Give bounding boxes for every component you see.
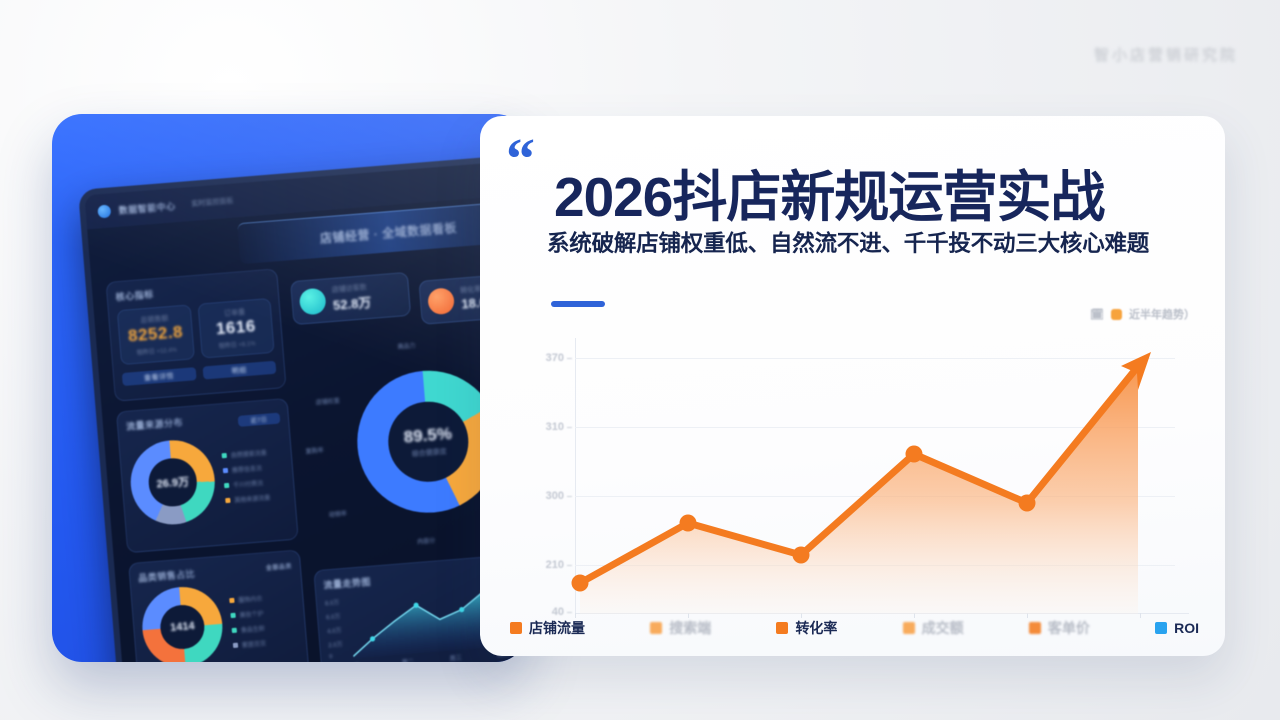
kpi-panel-title: 核心指标 bbox=[115, 278, 270, 303]
legend-label: 推荐信息流 bbox=[232, 463, 263, 474]
legend-swatch bbox=[776, 622, 788, 634]
legend-label: 其他来源流量 bbox=[234, 493, 271, 505]
area-ytick: 6.0万 bbox=[326, 611, 349, 622]
legend-label: ROI bbox=[1174, 620, 1199, 636]
legend-swatch bbox=[230, 613, 235, 618]
legend-label: 店铺流量 bbox=[529, 618, 585, 638]
chart-meta[interactable]: 🗓 近半年趋势） bbox=[1090, 306, 1195, 322]
legend-item-gmv[interactable]: 成交额 bbox=[903, 618, 964, 638]
kpi-label: 总销售额 bbox=[125, 312, 183, 327]
area-xtick: 周三 bbox=[449, 653, 462, 662]
legend-swatch bbox=[650, 622, 662, 634]
area-xtick: 周二 bbox=[402, 657, 415, 662]
legend-label: 客单价 bbox=[1048, 618, 1090, 638]
traffic-circle-icon bbox=[299, 288, 327, 316]
legend-swatch bbox=[1029, 622, 1041, 634]
legend-swatch bbox=[223, 468, 228, 473]
legend-item: 食品生鲜 bbox=[231, 623, 265, 635]
kpi-label: 订单量 bbox=[206, 306, 264, 321]
legend-swatch bbox=[225, 498, 230, 503]
chart-ytick: 210 bbox=[546, 559, 575, 571]
chart-point bbox=[793, 547, 810, 564]
legend-swatch bbox=[1155, 622, 1167, 634]
donut-chart-category-sales: 1414 bbox=[139, 584, 225, 662]
dashboard-subnav[interactable]: 实时监控面板 bbox=[191, 196, 234, 209]
area-ytick: 0 bbox=[329, 653, 351, 661]
dashboard-showcase-card: 数据智能中心 实时监控面板 店铺经营 · 全域数据看板 管理员 运营者 核心指标… bbox=[52, 114, 526, 662]
chart-point bbox=[572, 575, 589, 592]
area-ytick: 8.0万 bbox=[325, 597, 348, 608]
dashboard-topbar: 数据智能中心 实时监控面板 bbox=[84, 151, 526, 230]
legend-item-shop-traffic[interactable]: 店铺流量 bbox=[510, 618, 585, 638]
legend-label: 转化率 bbox=[795, 618, 837, 638]
donut-left-action-label: 近7日 bbox=[250, 414, 268, 424]
calendar-icon: 🗓 bbox=[1090, 308, 1104, 321]
legend-swatch bbox=[903, 622, 915, 634]
legend-item-roi[interactable]: ROI bbox=[1155, 620, 1199, 636]
kpi-card[interactable]: 总销售额 8252.8 较昨日 +12.4% bbox=[117, 304, 195, 365]
watermark-text: 智小店营销研究院 bbox=[1094, 44, 1238, 65]
chart-meta-label: 近半年趋势） bbox=[1129, 306, 1195, 322]
meta-dot-icon bbox=[1111, 309, 1122, 320]
kpi-value: 1616 bbox=[206, 316, 265, 341]
chart-legend: 店铺流量 搜索端 转化率 成交额 客单价 ROI bbox=[510, 618, 1199, 638]
legend-item: 服饰内衣 bbox=[229, 594, 263, 606]
legend-item-search[interactable]: 搜索端 bbox=[650, 618, 711, 638]
chart-ytick: 300 bbox=[546, 490, 575, 502]
chart-point bbox=[906, 446, 923, 463]
ring-label: 动销率 bbox=[328, 508, 347, 518]
donut-center-value: 89.5% bbox=[403, 424, 453, 448]
legend-item: 美妆个护 bbox=[230, 608, 264, 620]
chart-ytick: 40 bbox=[552, 606, 575, 618]
donut-center-label: 综合健康度 bbox=[411, 446, 447, 459]
legend-swatch bbox=[222, 453, 227, 458]
donut-left-legend: 自然搜索流量 推荐信息流 千川付费流 其他来源流量 bbox=[221, 448, 270, 505]
legend-label: 食品生鲜 bbox=[240, 623, 265, 634]
donut-left-title: 流量来源分布 bbox=[126, 415, 184, 433]
legend-item-unit-price[interactable]: 客单价 bbox=[1029, 618, 1090, 638]
page-title: 2026抖店新规运营实战 bbox=[554, 152, 1104, 232]
ring-label: 内容分 bbox=[417, 535, 436, 545]
legend-swatch bbox=[224, 483, 229, 488]
legend-label: 成交额 bbox=[922, 618, 964, 638]
donut-bottom-panel: 品类销售占比 全部品类 1414 服饰内衣 美妆个护 食品生鲜 家居百货 bbox=[128, 549, 310, 662]
donut-bottom-legend: 服饰内衣 美妆个护 食品生鲜 家居百货 bbox=[229, 594, 266, 650]
legend-label: 家居百货 bbox=[242, 638, 267, 649]
chart-ytick: 370 bbox=[546, 352, 575, 364]
chip-label: 店铺访客数 bbox=[331, 282, 370, 295]
kpi-sub: 较昨日 +8.1% bbox=[208, 337, 266, 351]
content-card: “ 2026抖店新规运营实战 系统破解店铺权重低、自然流不进、千千投不动三大核心… bbox=[480, 116, 1225, 656]
chip-value: 52.8万 bbox=[332, 295, 371, 313]
donut-bottom-action[interactable]: 全部品类 bbox=[266, 561, 293, 572]
donut-center-value: 26.9万 bbox=[156, 473, 190, 492]
chart-area-fill bbox=[580, 366, 1138, 614]
legend-swatch bbox=[510, 622, 522, 634]
legend-item-conversion-rate[interactable]: 转化率 bbox=[776, 618, 837, 638]
dashboard-brand: 数据智能中心 bbox=[118, 199, 176, 217]
dashboard-screen: 数据智能中心 实时监控面板 店铺经营 · 全域数据看板 管理员 运营者 核心指标… bbox=[78, 144, 526, 662]
legend-item: 自然搜索流量 bbox=[221, 448, 267, 461]
kpi-action-label: 查看详情 bbox=[144, 370, 175, 382]
kpi-action-button[interactable]: 查看详情 bbox=[122, 367, 196, 386]
dashboard-screen-tilt-wrapper: 数据智能中心 实时监控面板 店铺经营 · 全域数据看板 管理员 运营者 核心指标… bbox=[78, 145, 526, 662]
legend-label: 服饰内衣 bbox=[238, 594, 263, 605]
main-chart-svg bbox=[575, 346, 1175, 614]
chart-point bbox=[680, 515, 697, 532]
area-ytick: 2.0万 bbox=[328, 639, 351, 650]
area-ytick: 4.0万 bbox=[327, 625, 350, 636]
kpi-card[interactable]: 订单量 1616 较昨日 +8.1% bbox=[197, 298, 275, 359]
main-chart: 370 310 300 210 40 bbox=[575, 346, 1175, 614]
kpi-sub: 较昨日 +12.4% bbox=[128, 344, 186, 358]
donut-left-panel: 流量来源分布 近7日 26.9万 自然搜索流量 推荐信息流 千川付费流 bbox=[116, 398, 299, 553]
ring-label: 商品力 bbox=[397, 340, 416, 350]
app-logo-icon bbox=[97, 204, 111, 218]
donut-left-action[interactable]: 近7日 bbox=[238, 412, 281, 426]
page-subtitle: 系统破解店铺权重低、自然流不进、千千投不动三大核心难题 bbox=[547, 226, 1149, 258]
legend-swatch bbox=[233, 643, 238, 648]
donut-center-value: 1414 bbox=[170, 620, 195, 634]
donut-bottom-title: 品类销售占比 bbox=[138, 567, 196, 585]
legend-item: 其他来源流量 bbox=[225, 493, 271, 506]
kpi-panel: 核心指标 总销售额 8252.8 较昨日 +12.4% 订单量 1616 较昨日… bbox=[105, 268, 286, 401]
legend-label: 千川付费流 bbox=[233, 478, 264, 489]
ring-label: 店铺权重 bbox=[315, 396, 340, 407]
area-xtick: 周一 bbox=[354, 660, 367, 662]
conversion-circle-icon bbox=[427, 287, 455, 315]
legend-label: 自然搜索流量 bbox=[230, 448, 267, 460]
kpi-value: 8252.8 bbox=[126, 322, 185, 347]
legend-item: 推荐信息流 bbox=[223, 463, 269, 476]
quote-mark-icon: “ bbox=[506, 138, 535, 180]
legend-label: 搜索端 bbox=[669, 618, 711, 638]
title-divider bbox=[551, 301, 605, 307]
legend-swatch bbox=[229, 598, 234, 603]
legend-item: 家居百货 bbox=[233, 638, 267, 650]
donut-chart-traffic-source: 26.9万 bbox=[128, 437, 218, 527]
legend-label: 美妆个护 bbox=[239, 608, 264, 619]
chart-ytick: 310 bbox=[546, 421, 575, 433]
legend-swatch bbox=[232, 628, 237, 633]
ring-label: 复购率 bbox=[305, 445, 324, 455]
legend-item: 千川付费流 bbox=[224, 478, 270, 491]
dashboard-banner-label: 店铺经营 · 全域数据看板 bbox=[319, 218, 457, 246]
kpi-action-label: 明细 bbox=[231, 365, 247, 376]
kpi-action-button[interactable]: 明细 bbox=[202, 361, 276, 380]
metric-chip[interactable]: 店铺访客数 52.8万 bbox=[290, 272, 411, 325]
chart-point bbox=[1019, 495, 1036, 512]
